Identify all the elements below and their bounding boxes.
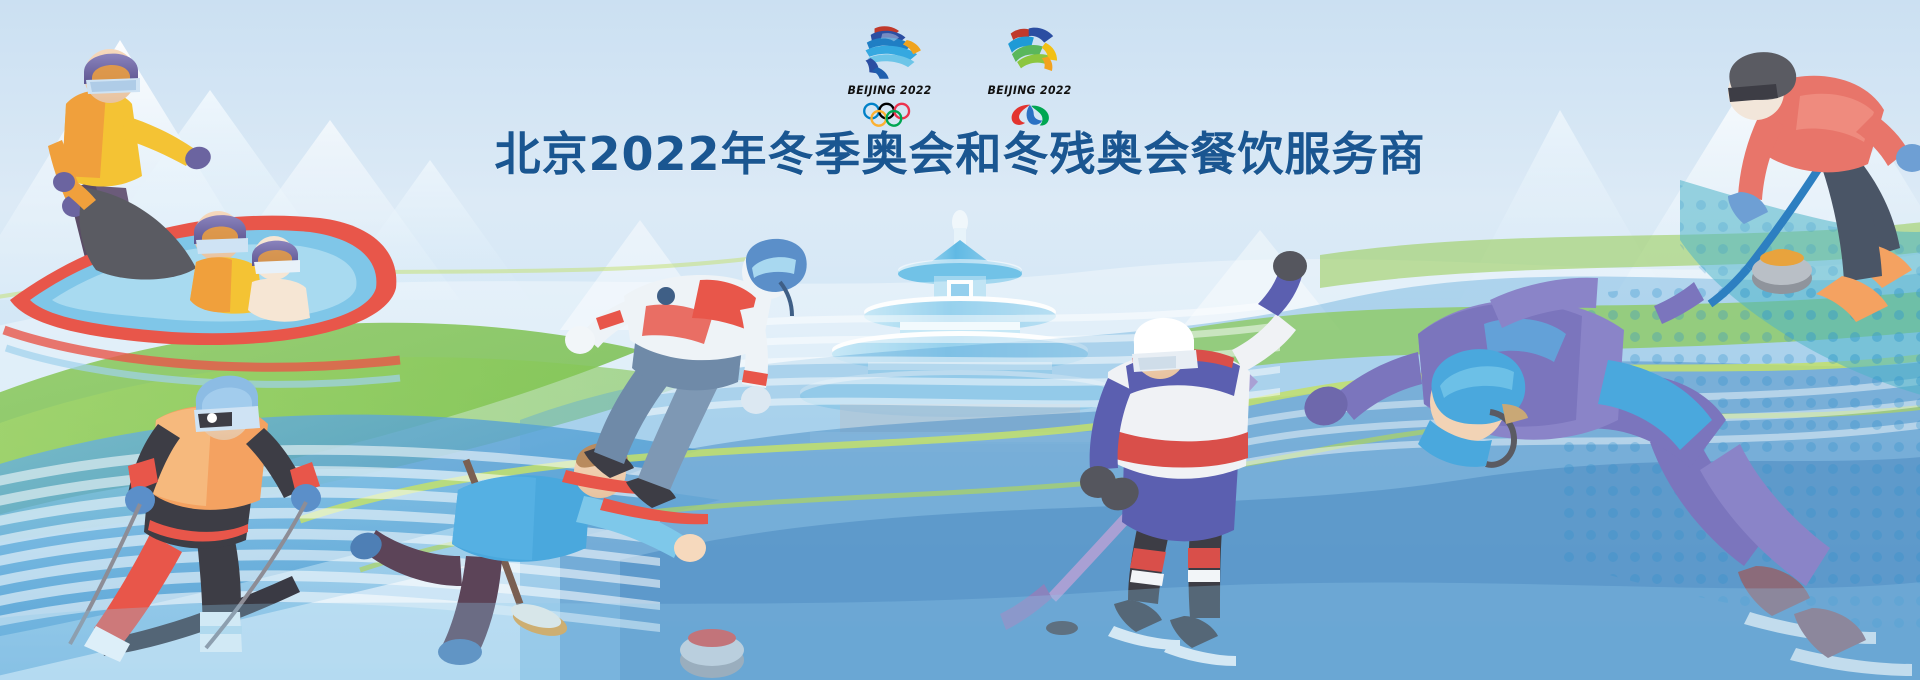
- paralympic-emblem: BEIJING 2022: [984, 22, 1076, 129]
- olympic-emblem: BEIJING 2022: [844, 22, 936, 129]
- winter-dream-emblem-icon: [851, 22, 929, 80]
- olympic-wordmark: BEIJING 2022: [848, 83, 932, 97]
- page-title: 北京2022年冬季奥会和冬残奥会餐饮服务商: [0, 118, 1920, 184]
- paralympic-wordmark: BEIJING 2022: [988, 83, 1072, 97]
- athlete-speed-skating: [562, 239, 807, 524]
- emblem-group: BEIJING 2022 BEIJIN: [0, 22, 1920, 129]
- olympic-banner: BEIJING 2022 BEIJIN: [0, 0, 1920, 680]
- leap-emblem-icon: [991, 22, 1069, 80]
